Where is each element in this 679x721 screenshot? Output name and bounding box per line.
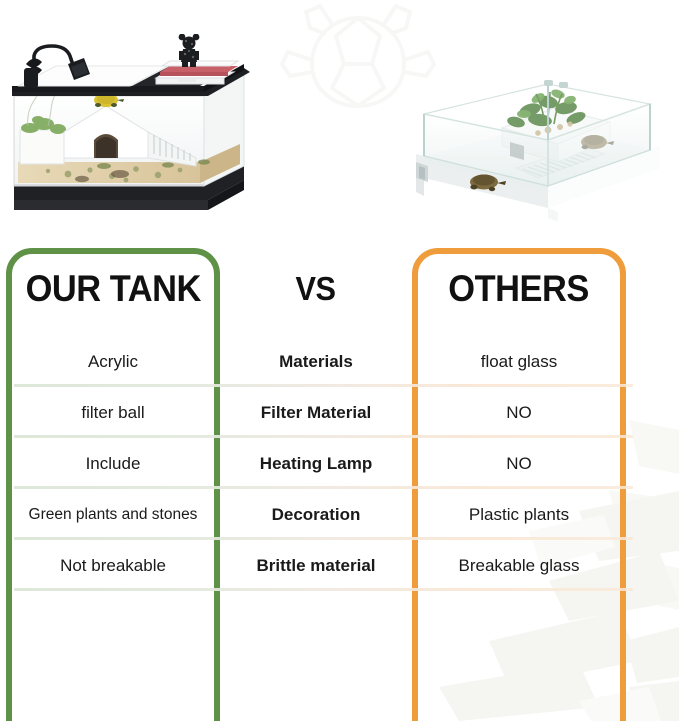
header-our-tank-label: OUR TANK xyxy=(25,268,200,310)
comparison-header-row: OUR TANK VS OTHERS xyxy=(0,248,679,330)
comparison-table: OUR TANK VS OTHERS Acrylic Materials flo… xyxy=(0,240,679,670)
competitor-glass-turtle-tank-photo xyxy=(398,50,668,225)
row-feature-label: Brittle material xyxy=(220,540,412,591)
table-row: Green plants and stones Decoration Plast… xyxy=(0,489,679,540)
table-row: filter ball Filter Material NO xyxy=(0,387,679,438)
row-ours-value: Include xyxy=(6,438,220,489)
row-divider xyxy=(14,588,633,591)
row-feature-label: Decoration xyxy=(220,489,412,540)
comparison-rows: Acrylic Materials float glass filter bal… xyxy=(0,336,679,591)
row-others-value: NO xyxy=(412,387,626,438)
row-feature-label: Materials xyxy=(220,336,412,387)
header-others-label: OTHERS xyxy=(449,268,590,310)
row-ours-value: Green plants and stones xyxy=(6,489,220,540)
row-others-value: float glass xyxy=(412,336,626,387)
table-row: Not breakable Brittle material Breakable… xyxy=(0,540,679,591)
header-vs: VS xyxy=(220,248,412,330)
row-ours-value: filter ball xyxy=(6,387,220,438)
header-others: OTHERS xyxy=(412,248,626,330)
our-acrylic-turtle-tank-photo xyxy=(8,34,266,224)
row-others-value: Plastic plants xyxy=(412,489,626,540)
header-vs-label: VS xyxy=(296,270,336,308)
row-ours-value: Acrylic xyxy=(6,336,220,387)
row-feature-label: Heating Lamp xyxy=(220,438,412,489)
table-row: Include Heating Lamp NO xyxy=(0,438,679,489)
row-ours-value: Not breakable xyxy=(6,540,220,591)
table-row: Acrylic Materials float glass xyxy=(0,336,679,387)
product-photos xyxy=(0,0,679,240)
row-feature-label: Filter Material xyxy=(220,387,412,438)
infographic-page: OUR TANK VS OTHERS Acrylic Materials flo… xyxy=(0,0,679,721)
row-others-value: Breakable glass xyxy=(412,540,626,591)
header-our-tank: OUR TANK xyxy=(6,248,220,330)
row-others-value: NO xyxy=(412,438,626,489)
